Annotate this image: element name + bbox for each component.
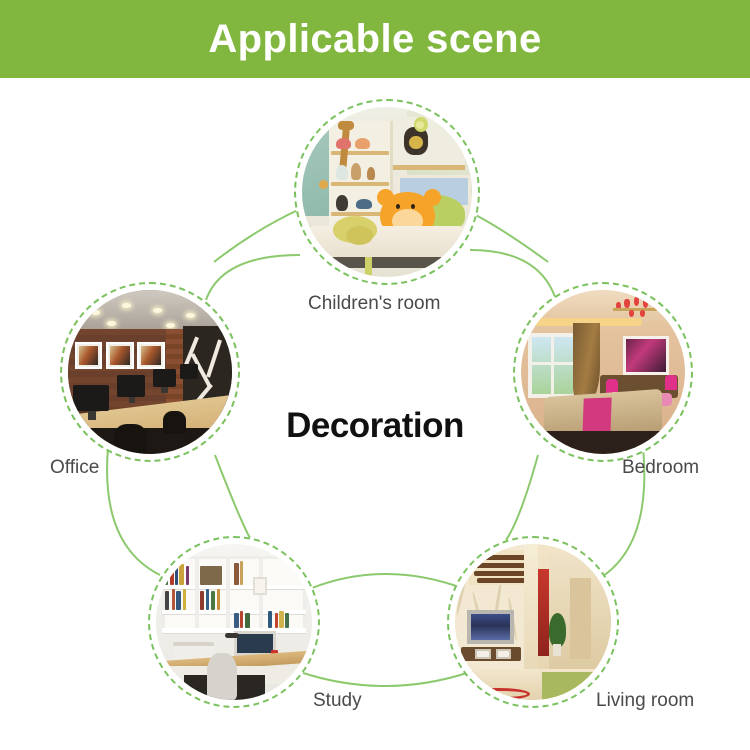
arc-office-to-study-inner <box>215 455 250 538</box>
arc-study-to-living-inner <box>312 574 462 588</box>
chandelier-icon <box>613 297 665 320</box>
node-label-childrens-room: Children's room <box>308 293 440 315</box>
node-study[interactable] <box>148 536 320 708</box>
applicable-scene-infographic: Applicable scene <box>0 0 750 750</box>
node-label-study: Study <box>313 690 362 712</box>
arc-bedroom-to-living-inner <box>506 455 538 540</box>
study-photo <box>156 544 312 700</box>
node-living-room[interactable] <box>447 536 619 708</box>
center-label: Decoration <box>0 406 750 446</box>
arc-childrens-to-office-outer <box>214 210 298 262</box>
node-label-bedroom: Bedroom <box>622 457 699 479</box>
arc-study-to-living <box>300 672 470 686</box>
childrens-room-photo <box>302 107 472 277</box>
node-label-living-room: Living room <box>596 690 694 712</box>
living-room-photo <box>455 544 611 700</box>
node-childrens-room[interactable] <box>294 99 480 285</box>
node-label-office: Office <box>50 457 99 479</box>
